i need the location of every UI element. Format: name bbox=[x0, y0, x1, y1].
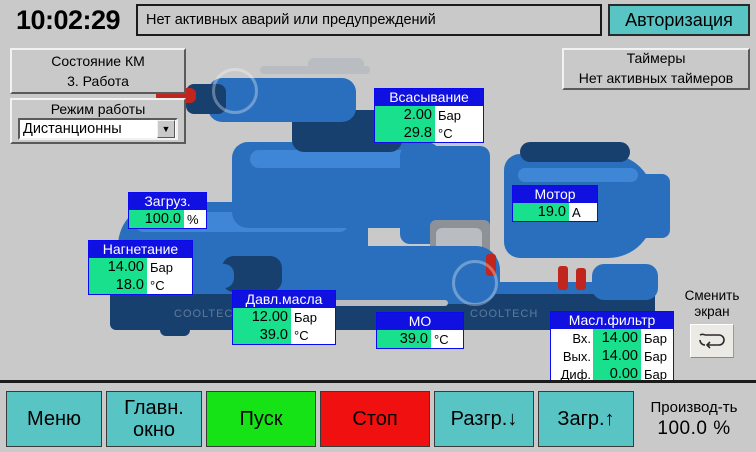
operating-mode-value: Дистанционны bbox=[20, 121, 157, 137]
oil-temperature-unit: °C bbox=[291, 326, 335, 344]
capacity-indicator: Производ-ть 100.0 % bbox=[638, 391, 750, 447]
operating-mode-select[interactable]: Дистанционны ▼ bbox=[18, 118, 178, 140]
suction-pressure-value: 2.00 bbox=[375, 106, 435, 124]
discharge-pressure-unit: Бар bbox=[147, 258, 192, 276]
timers-status: Нет активных таймеров bbox=[579, 69, 733, 89]
start-button[interactable]: Пуск bbox=[206, 391, 316, 447]
timers-title: Таймеры bbox=[627, 49, 686, 69]
oil-filter-diff-row: Диф. 0.00 Бар bbox=[551, 365, 673, 380]
oil-filter-widget[interactable]: Масл.фильтр Вх. 14.00 Бар Вых. 14.00 Бар… bbox=[550, 311, 674, 380]
suction-temperature-row: 29.8 °C bbox=[375, 124, 483, 142]
main-window-button[interactable]: Главн. окно bbox=[106, 391, 202, 447]
suction-pressure-row: 2.00 Бар bbox=[375, 106, 483, 124]
top-status-bar: 10:02:29 Нет активных аварий или предупр… bbox=[0, 0, 756, 40]
oil-pressure-row: 12.00 Бар bbox=[233, 308, 335, 326]
enter-return-icon[interactable] bbox=[690, 324, 734, 358]
change-screen-label-line1: Сменить bbox=[685, 288, 740, 304]
compressor-state-box: Состояние КМ 3. Работа bbox=[10, 48, 186, 94]
discharge-pressure-value: 14.00 bbox=[89, 258, 147, 276]
main-mimic-area: COOLTECH COOLTECH Состояние КМ 3. Работа… bbox=[0, 40, 756, 380]
load-title: Загруз. bbox=[129, 193, 206, 210]
oil-filter-diff-unit: Бар bbox=[641, 365, 673, 380]
oil-filter-out-row: Вых. 14.00 Бар bbox=[551, 347, 673, 365]
operating-mode-box: Режим работы Дистанционны ▼ bbox=[10, 98, 186, 144]
operating-mode-label: Режим работы bbox=[51, 101, 146, 117]
unload-button[interactable]: Разгр.↓ bbox=[434, 391, 534, 447]
alarm-status-box[interactable]: Нет активных аварий или предупреждений bbox=[136, 4, 602, 36]
discharge-pressure-row: 14.00 Бар bbox=[89, 258, 192, 276]
timers-box: Таймеры Нет активных таймеров bbox=[562, 48, 750, 90]
oil-temperature-value: 39.0 bbox=[233, 326, 291, 344]
change-screen-label-line2: экран bbox=[694, 304, 729, 320]
oil-filter-out-label: Вых. bbox=[551, 347, 593, 365]
load-widget[interactable]: Загруз. 100.0 % bbox=[128, 192, 207, 229]
capacity-label: Производ-ть bbox=[651, 399, 738, 416]
hmi-screen: 10:02:29 Нет активных аварий или предупр… bbox=[0, 0, 756, 452]
oil-temperature-row: 39.0 °C bbox=[233, 326, 335, 344]
discharge-temperature-row: 18.0 °C bbox=[89, 276, 192, 294]
motor-current-unit: A bbox=[569, 203, 597, 221]
discharge-widget[interactable]: Нагнетание 14.00 Бар 18.0 °C bbox=[88, 240, 193, 295]
menu-button[interactable]: Меню bbox=[6, 391, 102, 447]
compressor-state-value: 3. Работа bbox=[67, 71, 129, 91]
oil-filter-in-label: Вх. bbox=[551, 329, 593, 347]
change-screen-control[interactable]: Сменить экран bbox=[674, 288, 750, 358]
suction-temperature-value: 29.8 bbox=[375, 124, 435, 142]
suction-temperature-unit: °C bbox=[435, 124, 481, 142]
mo-unit: °C bbox=[431, 330, 463, 348]
oil-filter-diff-label: Диф. bbox=[551, 365, 593, 380]
capacity-value: 100.0 % bbox=[657, 418, 730, 440]
mo-row: 39.0 °C bbox=[377, 330, 463, 348]
discharge-temperature-unit: °C bbox=[147, 276, 192, 294]
oil-filter-out-unit: Бар bbox=[641, 347, 673, 365]
authorization-button[interactable]: Авторизация bbox=[608, 4, 750, 36]
bottom-button-bar: Меню Главн. окно Пуск Стоп Разгр.↓ Загр.… bbox=[0, 380, 756, 452]
suction-title: Всасывание bbox=[375, 89, 483, 106]
oil-filter-in-value: 14.00 bbox=[593, 329, 641, 347]
oil-filter-out-value: 14.00 bbox=[593, 347, 641, 365]
oil-pressure-title: Давл.масла bbox=[233, 291, 335, 308]
motor-current-row: 19.0 A bbox=[513, 203, 597, 221]
suction-pressure-unit: Бар bbox=[435, 106, 481, 124]
stop-button[interactable]: Стоп bbox=[320, 391, 430, 447]
mo-title: МО bbox=[377, 313, 463, 330]
motor-widget[interactable]: Мотор 19.0 A bbox=[512, 185, 598, 222]
mo-widget[interactable]: МО 39.0 °C bbox=[376, 312, 464, 349]
oil-pressure-widget[interactable]: Давл.масла 12.00 Бар 39.0 °C bbox=[232, 290, 336, 345]
motor-title: Мотор bbox=[513, 186, 597, 203]
oil-filter-diff-value: 0.00 bbox=[593, 365, 641, 380]
suction-widget[interactable]: Всасывание 2.00 Бар 29.8 °C bbox=[374, 88, 484, 143]
main-window-label-line1: Главн. bbox=[124, 397, 184, 419]
alarm-status-text: Нет активных аварий или предупреждений bbox=[138, 12, 436, 28]
load-row: 100.0 % bbox=[129, 210, 206, 228]
oil-filter-in-row: Вх. 14.00 Бар bbox=[551, 329, 673, 347]
clock-display: 10:02:29 bbox=[2, 1, 134, 39]
mo-value: 39.0 bbox=[377, 330, 431, 348]
load-button[interactable]: Загр.↑ bbox=[538, 391, 634, 447]
oil-pressure-value: 12.00 bbox=[233, 308, 291, 326]
chevron-down-icon[interactable]: ▼ bbox=[157, 120, 175, 138]
discharge-title: Нагнетание bbox=[89, 241, 192, 258]
motor-current-value: 19.0 bbox=[513, 203, 569, 221]
compressor-state-title: Состояние КМ bbox=[51, 51, 145, 71]
load-value: 100.0 bbox=[129, 210, 184, 228]
oil-filter-in-unit: Бар bbox=[641, 329, 673, 347]
load-unit: % bbox=[184, 210, 206, 228]
oil-pressure-unit: Бар bbox=[291, 308, 335, 326]
main-window-label-line2: окно bbox=[133, 419, 175, 441]
discharge-temperature-value: 18.0 bbox=[89, 276, 147, 294]
oil-filter-title: Масл.фильтр bbox=[551, 312, 673, 329]
